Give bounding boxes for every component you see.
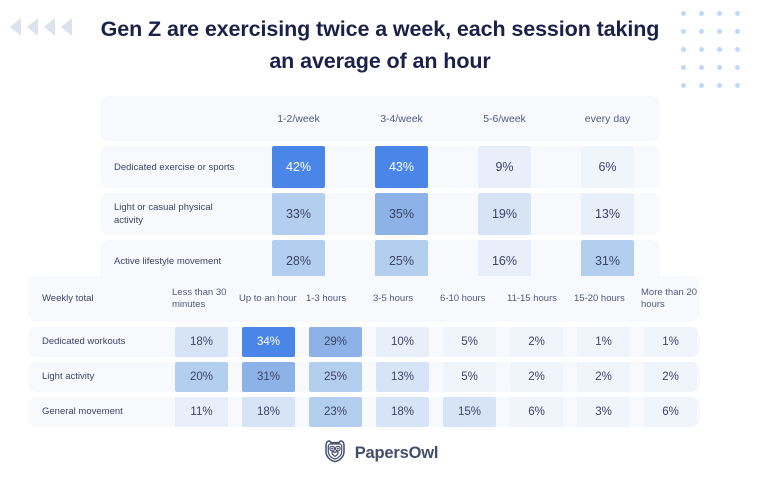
dot-icon [735,65,740,70]
cell-value: 2% [644,362,697,392]
table-cell: 15% [436,397,503,427]
cell-value: 42% [272,146,325,188]
dot-icon [735,47,740,52]
table-cell: 6% [556,146,659,188]
cell-value: 18% [175,327,228,357]
cell-value: 11% [175,397,228,427]
dot-icon [699,47,704,52]
triangle-icon [27,18,38,36]
cell-value: 33% [272,193,325,235]
table-cell: 5% [436,362,503,392]
row-label: Light or casual physical activity [100,193,247,235]
owl-icon [322,438,348,469]
dot-icon [735,11,740,16]
dot-icon [717,83,722,88]
table-cell: 2% [637,362,700,392]
cell-value: 13% [376,362,429,392]
column-header: 3-4/week [350,96,453,141]
page-title: Gen Z are exercising twice a week, each … [95,13,665,77]
table-cell: 13% [556,193,659,235]
table-cell: 2% [570,362,637,392]
column-header: More than 20 hours [637,276,700,322]
dot-icon [681,11,686,16]
cell-value: 43% [375,146,428,188]
dot-icon [717,47,722,52]
dot-icon [699,11,704,16]
cell-value: 1% [577,327,630,357]
column-header: every day [556,96,659,141]
table-cell: 1% [637,327,700,357]
decorative-dot-grid [674,4,746,94]
dot-icon [717,29,722,34]
row-label: General movement [28,397,168,427]
footer-logo[interactable]: PapersOwl [0,438,760,469]
table-cell: 35% [350,193,453,235]
dot-icon [717,11,722,16]
table-cell: 9% [453,146,556,188]
dot-icon [717,65,722,70]
table-cell: 6% [503,397,570,427]
cell-value: 19% [478,193,531,235]
dot-icon [699,65,704,70]
table-cell: 42% [247,146,350,188]
table-row: Dedicated exercise or sports42%43%9%6% [100,146,660,188]
cell-value: 5% [443,327,496,357]
table-cell: 2% [503,327,570,357]
table-cell: 34% [235,327,302,357]
cell-value: 35% [375,193,428,235]
table-cell: 1% [570,327,637,357]
cell-value: 34% [242,327,295,357]
column-header: 3-5 hours [369,276,436,322]
table-corner-label [100,96,247,141]
exercise-frequency-table: 1-2/week3-4/week5-6/weekevery dayDedicat… [100,96,660,282]
table-corner-label: Weekly total [28,276,168,322]
triangle-icon [10,18,21,36]
cell-value: 13% [581,193,634,235]
table-row: Light or casual physical activity33%35%1… [100,193,660,235]
row-label: Dedicated exercise or sports [100,146,247,188]
column-header: 11-15 hours [503,276,570,322]
dot-icon [681,29,686,34]
table-cell: 10% [369,327,436,357]
table-row: General movement11%18%23%18%15%6%3%6% [28,397,700,427]
row-label: Dedicated workouts [28,327,168,357]
cell-value: 5% [443,362,496,392]
cell-value: 18% [242,397,295,427]
table-header-row: 1-2/week3-4/week5-6/weekevery day [100,96,660,141]
column-header: Less than 30 minutes [168,276,235,322]
cell-value: 2% [510,327,563,357]
table-header-row: Weekly totalLess than 30 minutesUp to an… [28,276,700,322]
table-cell: 31% [235,362,302,392]
cell-value: 6% [581,146,634,188]
dot-icon [681,83,686,88]
cell-value: 10% [376,327,429,357]
cell-value: 23% [309,397,362,427]
cell-value: 2% [510,362,563,392]
table-cell: 25% [302,362,369,392]
cell-value: 2% [577,362,630,392]
table-cell: 11% [168,397,235,427]
row-label: Light activity [28,362,168,392]
cell-value: 25% [309,362,362,392]
cell-value: 20% [175,362,228,392]
column-header: 1-2/week [247,96,350,141]
column-header: 1-3 hours [302,276,369,322]
cell-value: 6% [510,397,563,427]
cell-value: 15% [443,397,496,427]
column-header: 15-20 hours [570,276,637,322]
table-cell: 20% [168,362,235,392]
column-header: Up to an hour [235,276,302,322]
table-cell: 43% [350,146,453,188]
table-cell: 29% [302,327,369,357]
cell-value: 6% [644,397,697,427]
decorative-triangles [10,18,72,36]
table-cell: 2% [503,362,570,392]
cell-value: 3% [577,397,630,427]
cell-value: 18% [376,397,429,427]
column-header: 5-6/week [453,96,556,141]
table-cell: 18% [369,397,436,427]
weekly-total-table: Weekly totalLess than 30 minutesUp to an… [28,276,700,427]
triangle-icon [44,18,55,36]
table-row: Dedicated workouts18%34%29%10%5%2%1%1% [28,327,700,357]
table-cell: 13% [369,362,436,392]
triangle-icon [61,18,72,36]
table-cell: 5% [436,327,503,357]
table-row: Light activity20%31%25%13%5%2%2%2% [28,362,700,392]
dot-icon [681,47,686,52]
table-cell: 33% [247,193,350,235]
cell-value: 31% [242,362,295,392]
table-cell: 19% [453,193,556,235]
cell-value: 1% [644,327,697,357]
dot-icon [681,65,686,70]
cell-value: 29% [309,327,362,357]
table-cell: 18% [168,327,235,357]
table-cell: 18% [235,397,302,427]
dot-icon [735,83,740,88]
table-cell: 23% [302,397,369,427]
table-cell: 6% [637,397,700,427]
logo-wordmark: PapersOwl [355,444,439,463]
column-header: 6-10 hours [436,276,503,322]
table-cell: 3% [570,397,637,427]
dot-icon [699,29,704,34]
dot-icon [735,29,740,34]
cell-value: 9% [478,146,531,188]
dot-icon [699,83,704,88]
